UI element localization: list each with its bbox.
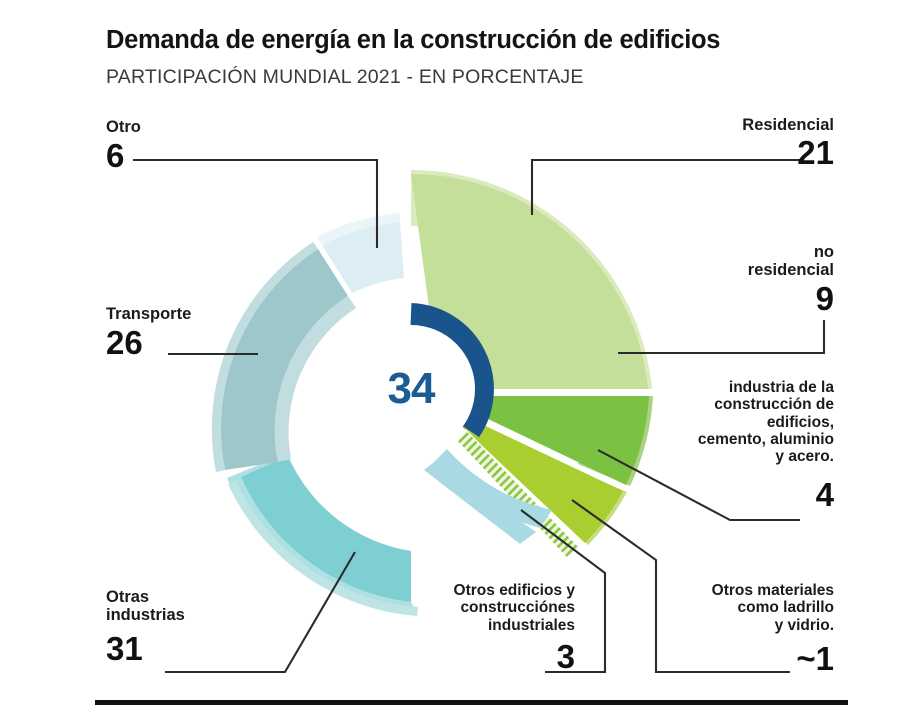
label-otros-materiales-caption-l1: Otros materiales	[640, 582, 834, 599]
label-otros-materiales-caption-l2: como ladrillo	[640, 599, 834, 616]
label-transporte-value: 26	[106, 326, 286, 359]
leader-no-residencial	[620, 318, 824, 354]
label-industria-value: 4	[634, 478, 834, 511]
label-otros-materiales-value: ~1	[640, 642, 834, 675]
label-industria-caption-l1: industria de la	[634, 379, 834, 396]
label-no-residencial: no residencial 9	[630, 243, 834, 315]
infographic-root: Demanda de energía en la construcción de…	[0, 0, 923, 720]
label-transporte: Transporte 26	[106, 305, 286, 359]
label-no-residencial-value: 9	[630, 282, 834, 315]
label-residencial: Residencial 21	[630, 116, 834, 169]
label-industria-caption-l5: y acero.	[634, 448, 834, 465]
label-industria-caption-l4: cemento, aluminio	[634, 431, 834, 448]
label-industria-construccion: industria de la construcción de edificio…	[634, 379, 834, 511]
label-otras-industrias-caption-l2: industrias	[106, 606, 296, 624]
label-otros-materiales-caption-l3: y vidrio.	[640, 617, 834, 634]
label-otras-industrias-caption-l1: Otras	[106, 588, 296, 606]
bottom-rule	[95, 700, 848, 705]
center-total-value: 34	[357, 364, 465, 414]
label-otro-value: 6	[106, 139, 266, 172]
label-industria-caption-l2: construcción de	[634, 396, 834, 413]
label-no-residencial-caption-l1: no	[630, 243, 834, 261]
label-transporte-caption: Transporte	[106, 305, 286, 323]
label-otros-edificios-value: 3	[370, 640, 575, 673]
label-otros-edificios: Otros edificios y construcciónes industr…	[370, 582, 575, 673]
label-residencial-value: 21	[630, 136, 834, 169]
leader-no-residencial-b	[620, 345, 824, 353]
label-otro-caption: Otro	[106, 118, 266, 136]
label-otros-edificios-caption-l3: industriales	[370, 617, 575, 634]
label-no-residencial-caption-l2: residencial	[630, 261, 834, 279]
label-otro: Otro 6	[106, 118, 266, 172]
label-residencial-caption: Residencial	[630, 116, 834, 134]
label-industria-caption-l3: edificios,	[634, 414, 834, 431]
label-otros-edificios-caption-l2: construcciónes	[370, 599, 575, 616]
leader-no-residencial-c	[618, 320, 824, 353]
label-otras-industrias-value: 31	[106, 632, 296, 665]
label-otros-edificios-caption-l1: Otros edificios y	[370, 582, 575, 599]
label-otros-materiales: Otros materiales como ladrillo y vidrio.…	[640, 582, 834, 675]
label-otras-industrias: Otras industrias 31	[106, 588, 296, 665]
